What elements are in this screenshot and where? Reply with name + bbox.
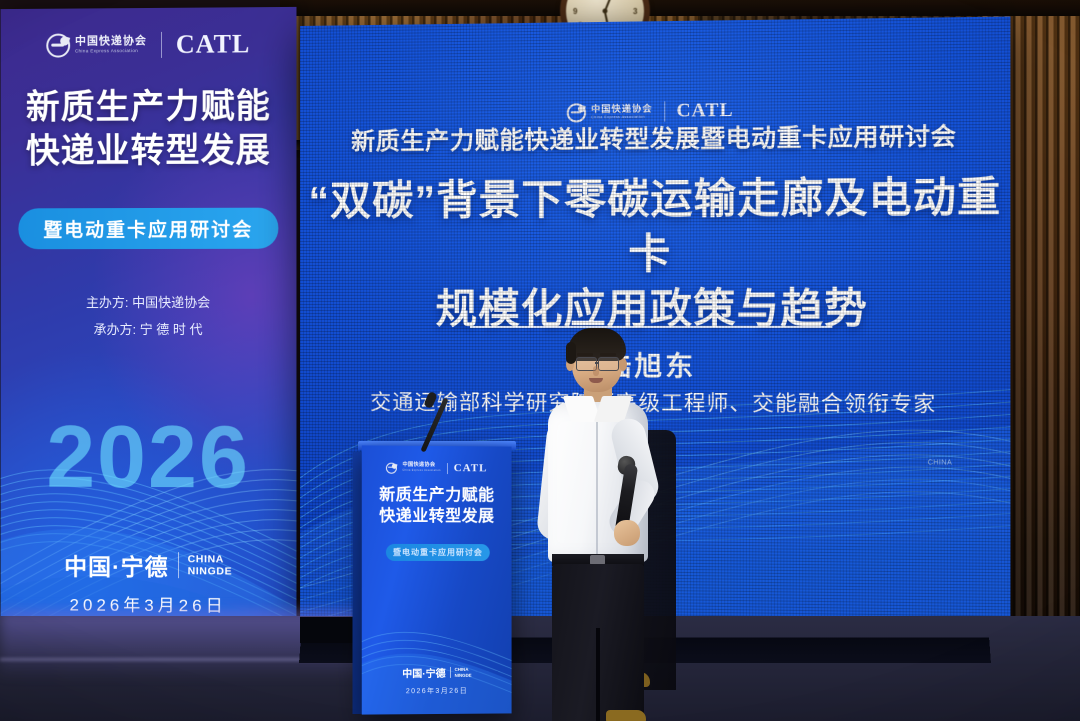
ceiling-trim — [280, 0, 1080, 16]
banner-title: 新质生产力赋能 快递业转型发展 — [1, 85, 297, 173]
banner-organizers: 主办方: 中国快递协会 承办方: 宁 德 时 代 — [1, 290, 297, 343]
clock-number: 10 — [577, 0, 586, 1]
podium-city-block: 中国·宁德 CHINA NINGDE — [362, 665, 512, 681]
cea-logo-cn: 中国快递协会 — [75, 36, 147, 47]
clock-number: 3 — [633, 7, 637, 16]
cea-logo-en: China Express Association — [402, 470, 440, 473]
city-divider — [178, 552, 179, 578]
city-divider — [450, 667, 451, 678]
clock-center-cap — [603, 9, 608, 14]
banner-city-en-line1: CHINA — [188, 553, 233, 566]
glasses-lens-right-icon — [598, 357, 619, 371]
banner-city-block: 中国·宁德 CHINA NINGDE — [1, 547, 297, 583]
podium-city-en-line2: NINGDE — [455, 672, 472, 677]
china-express-association-logo: 中国快递协会 China Express Association — [386, 462, 440, 473]
podium-subtitle-pill: 暨电动重卡应用研讨会 — [386, 544, 490, 561]
banner-organizer: 主办方: 中国快递协会 — [1, 290, 297, 317]
banner-city-cn: 中国·宁德 — [64, 548, 168, 583]
left-event-banner: 中国快递协会 China Express Association CATL 新质… — [1, 7, 297, 649]
banner-logo-row: 中国快递协会 China Express Association CATL — [1, 29, 297, 61]
speaker-nose — [593, 366, 599, 376]
podium-logo-row: 中国快递协会 China Express Association CATL — [362, 461, 512, 474]
logo-divider — [161, 32, 162, 58]
speaker-eyebrow-right — [600, 353, 616, 356]
banner-title-line1: 新质生产力赋能 — [1, 85, 297, 130]
logo-divider — [447, 463, 448, 474]
cea-logo-en: China Express Association — [75, 49, 147, 54]
speaker-hand — [614, 520, 640, 546]
podium-title-line2: 快递业转型发展 — [362, 506, 512, 527]
cea-emblem-icon — [46, 34, 70, 58]
podium-title-line1: 新质生产力赋能 — [362, 486, 512, 508]
speaker-trouser-gap — [596, 628, 600, 721]
speaker-person — [520, 328, 690, 721]
catl-logo: CATL — [176, 29, 251, 60]
cea-logo-cn: 中国快递协会 — [402, 463, 440, 468]
clock-number: 2 — [629, 0, 633, 1]
podium-front-panel: 中国快递协会 China Express Association CATL 新质… — [362, 445, 512, 714]
podium-city-cn: 中国·宁德 — [402, 665, 445, 680]
banner-year: 2026 — [1, 406, 297, 509]
podium-title: 新质生产力赋能 快递业转型发展 — [362, 486, 512, 528]
banner-city-en: CHINA NINGDE — [188, 553, 233, 578]
conference-stage-scene: 12 1 2 3 4 5 6 7 8 9 10 11 — [0, 0, 1080, 721]
glasses-bridge-icon — [595, 362, 598, 364]
china-express-association-logo: 中国快递协会 China Express Association — [46, 33, 147, 58]
cea-emblem-icon — [386, 462, 397, 473]
led-title-line1: “双碳”背景下零碳运输走廊及电动重卡 — [300, 169, 1010, 282]
clock-number: 9 — [573, 7, 577, 16]
speaker-hair — [568, 328, 626, 361]
podium-date: 2026年3月26日 — [362, 686, 512, 697]
banner-city-en-line2: NINGDE — [188, 565, 233, 578]
banner-co-organizer: 承办方: 宁 德 时 代 — [1, 317, 297, 344]
cea-logo-cn: 中国快递协会 — [591, 104, 653, 114]
speaker-shoe — [606, 710, 646, 721]
led-watermark: CHINA — [928, 459, 953, 467]
led-presentation-title: “双碳”背景下零碳运输走廊及电动重卡 规模化应用政策与趋势 — [300, 169, 1010, 336]
speaker-eyebrow-left — [577, 353, 593, 356]
banner-title-line2: 快递业转型发展 — [1, 129, 297, 174]
catl-logo: CATL — [454, 462, 488, 474]
led-event-header: 新质生产力赋能快递业转型发展暨电动重卡应用研讨会 — [300, 115, 1010, 157]
banner-subtitle-pill: 暨电动重卡应用研讨会 — [18, 208, 278, 250]
speaker-shirt-placket — [596, 414, 598, 554]
podium-city-en: CHINA NINGDE — [455, 667, 472, 677]
